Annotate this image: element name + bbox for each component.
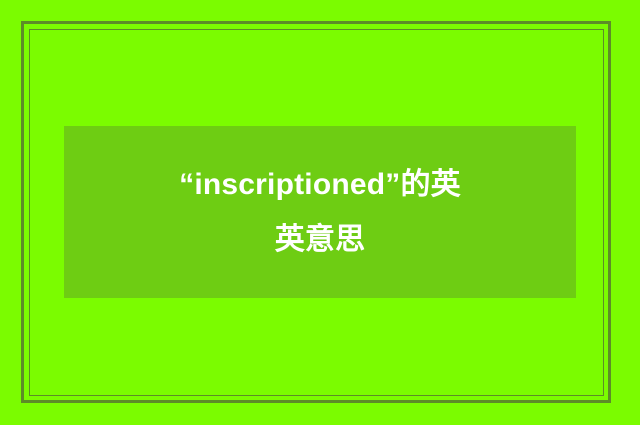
banner-panel: “inscriptioned”的英英意思 [64,126,576,298]
image-canvas: “inscriptioned”的英英意思 [0,0,640,425]
banner-headline: “inscriptioned”的英英意思 [175,157,465,268]
